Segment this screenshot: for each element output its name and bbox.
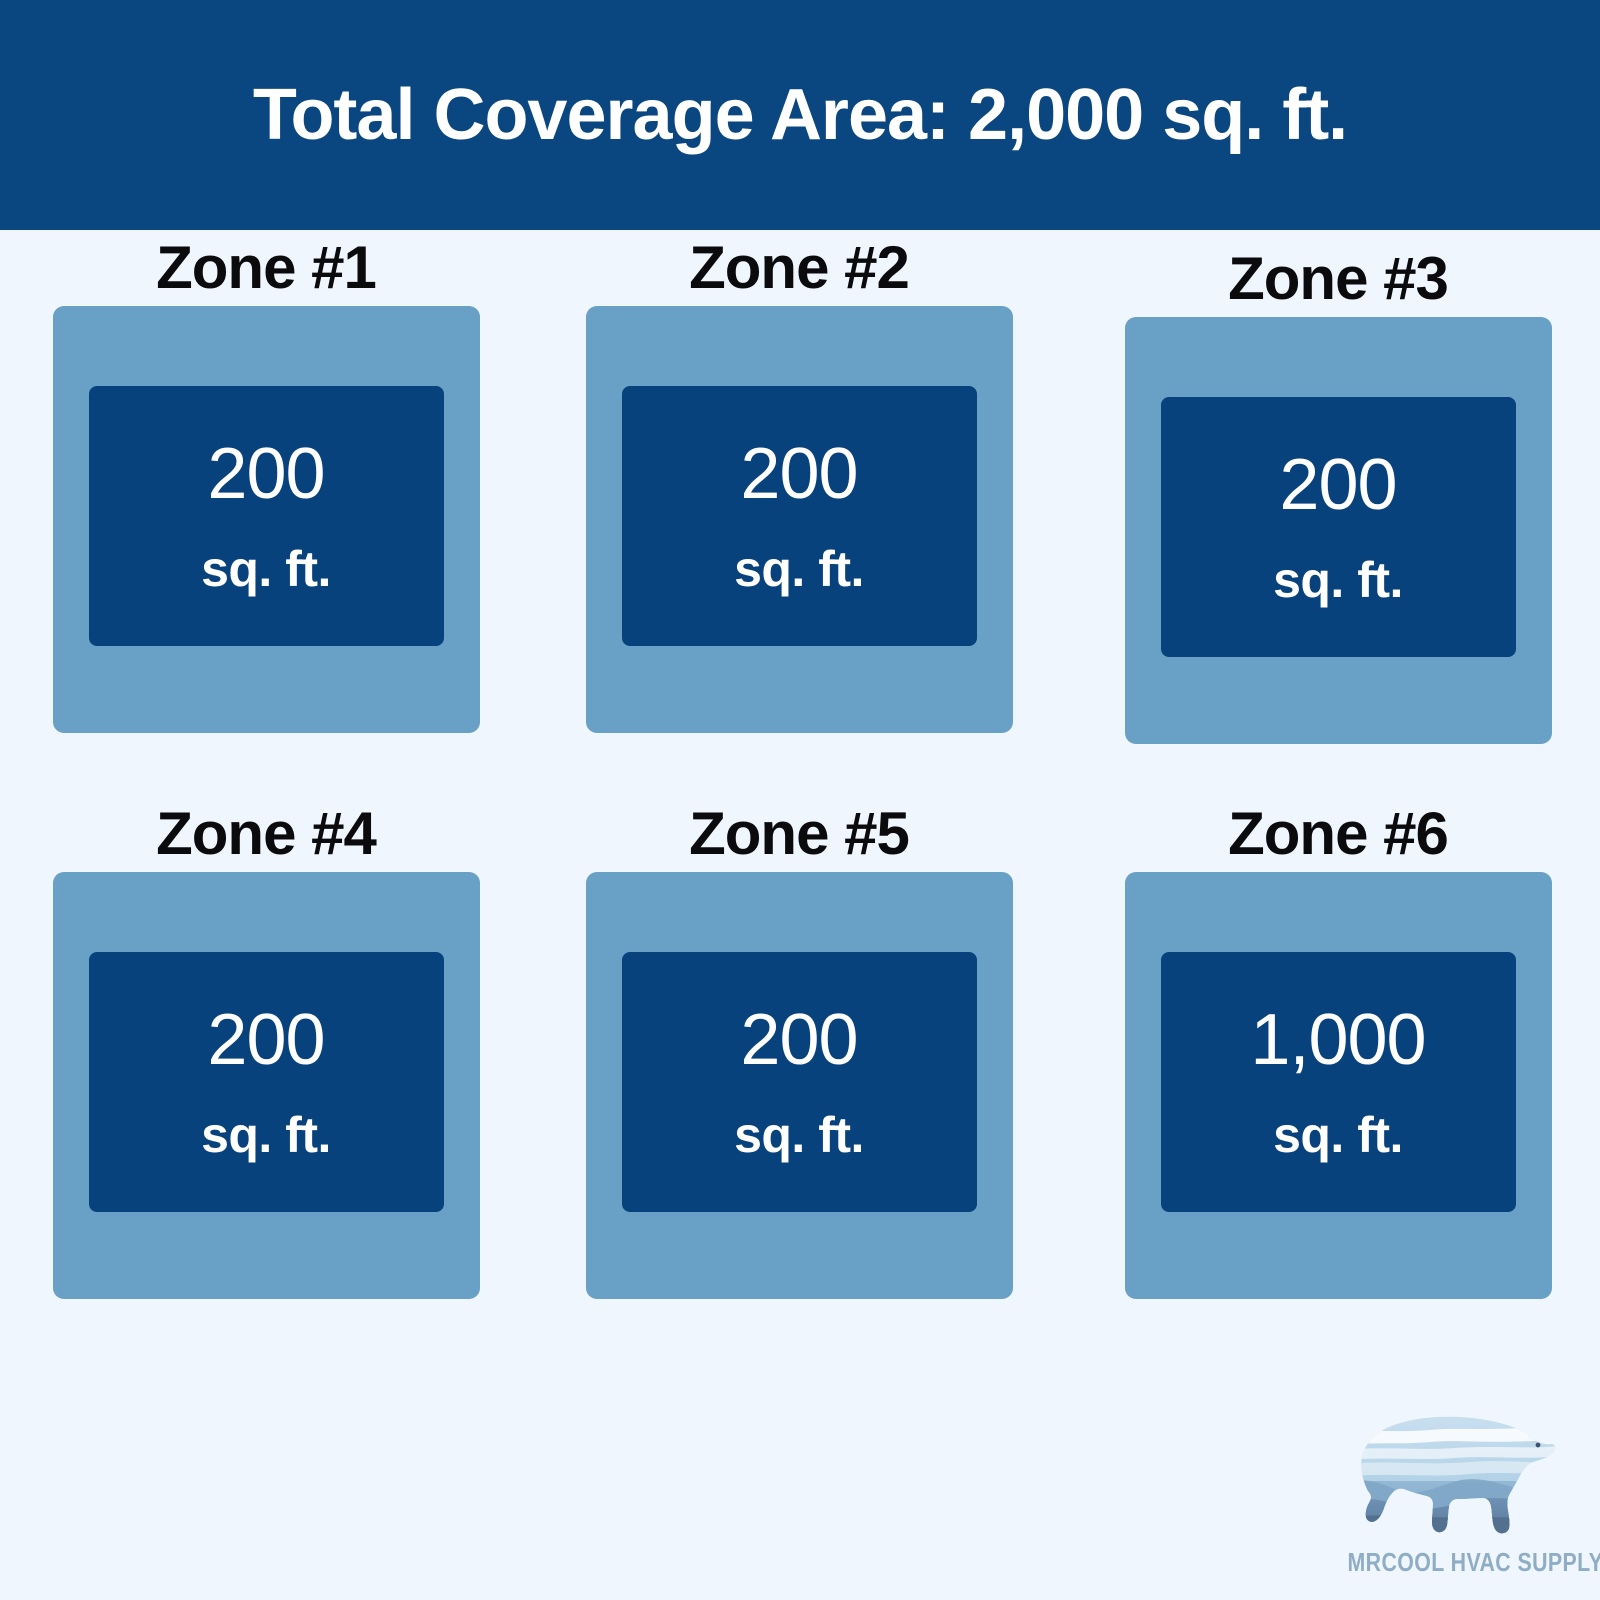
zone-card-1[interactable]: Zone #1 200 sq. ft. (31, 230, 501, 733)
zone-card-3[interactable]: Zone #3 200 sq. ft. (1103, 241, 1573, 744)
zone-value: 200 (1279, 449, 1396, 521)
zone-outer-square: 200 sq. ft. (586, 306, 1013, 733)
zone-label: Zone #5 (564, 796, 1034, 872)
zone-label: Zone #3 (1103, 241, 1573, 317)
zone-value: 200 (740, 438, 857, 510)
zone-label: Zone #6 (1103, 796, 1573, 872)
zone-card-6[interactable]: Zone #6 1,000 sq. ft. (1103, 796, 1573, 1299)
brand-logo: MRCOOL HVAC SUPPLY (1325, 1395, 1575, 1590)
zone-card-5[interactable]: Zone #5 200 sq. ft. (564, 796, 1034, 1299)
zone-unit: sq. ft. (1273, 1110, 1403, 1160)
zone-outer-square: 200 sq. ft. (53, 872, 480, 1299)
zone-unit: sq. ft. (201, 1110, 331, 1160)
zone-value: 200 (740, 1004, 857, 1076)
page-title: Total Coverage Area: 2,000 sq. ft. (253, 79, 1347, 151)
zone-outer-square: 1,000 sq. ft. (1125, 872, 1552, 1299)
zone-unit: sq. ft. (734, 1110, 864, 1160)
zone-inner-square: 200 sq. ft. (622, 952, 977, 1212)
zone-inner-square: 200 sq. ft. (89, 386, 444, 646)
zone-card-2[interactable]: Zone #2 200 sq. ft. (564, 230, 1034, 733)
zone-label: Zone #2 (564, 230, 1034, 306)
brand-name: MRCOOL HVAC SUPPLY (1348, 1547, 1553, 1578)
zone-unit: sq. ft. (734, 544, 864, 594)
zone-unit: sq. ft. (1273, 555, 1403, 605)
infographic-page: Total Coverage Area: 2,000 sq. ft. Zone … (0, 0, 1600, 1600)
zone-outer-square: 200 sq. ft. (1125, 317, 1552, 744)
zone-outer-square: 200 sq. ft. (53, 306, 480, 733)
zone-outer-square: 200 sq. ft. (586, 872, 1013, 1299)
zone-value: 200 (207, 1004, 324, 1076)
polar-bear-icon (1335, 1395, 1565, 1545)
zone-value: 1,000 (1250, 1004, 1425, 1076)
zone-inner-square: 200 sq. ft. (1161, 397, 1516, 657)
zone-label: Zone #4 (31, 796, 501, 872)
zone-inner-square: 200 sq. ft. (89, 952, 444, 1212)
zone-inner-square: 1,000 sq. ft. (1161, 952, 1516, 1212)
bear-eye-icon (1536, 1443, 1541, 1448)
zone-value: 200 (207, 438, 324, 510)
header-banner: Total Coverage Area: 2,000 sq. ft. (0, 0, 1600, 230)
zone-card-4[interactable]: Zone #4 200 sq. ft. (31, 796, 501, 1299)
zone-grid: Zone #1 200 sq. ft. Zone #2 200 sq. ft. … (0, 230, 1600, 1400)
zone-unit: sq. ft. (201, 544, 331, 594)
zone-inner-square: 200 sq. ft. (622, 386, 977, 646)
zone-label: Zone #1 (31, 230, 501, 306)
